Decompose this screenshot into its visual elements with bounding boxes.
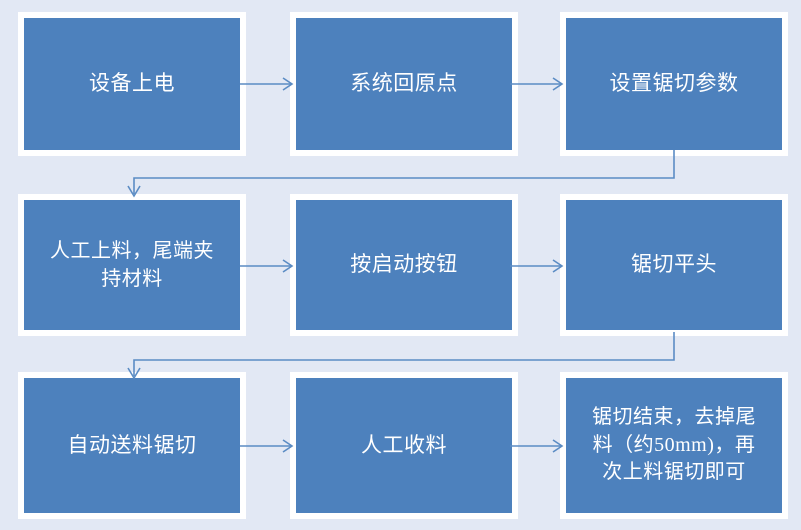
- flow-node-power-on[interactable]: 设备上电: [18, 12, 246, 156]
- flow-node-label: 自动送料锯切: [68, 431, 197, 461]
- flow-node-label: 设备上电: [89, 69, 175, 99]
- flow-node-label: 人工上料，尾端夹 持材料: [50, 237, 214, 294]
- flow-node-system-home[interactable]: 系统回原点: [290, 12, 518, 156]
- flowchart-canvas: 设备上电 系统回原点 设置锯切参数 人工上料，尾端夹 持材料 按启动按钮 锯切平…: [0, 0, 801, 530]
- flow-node-manual-unloading[interactable]: 人工收料: [290, 372, 518, 519]
- flow-node-set-saw-params[interactable]: 设置锯切参数: [560, 12, 788, 156]
- flow-node-label: 锯切结束，去掉尾 料（约50mm)，再 次上料锯切即可: [592, 404, 756, 487]
- flow-node-label: 锯切平头: [631, 250, 717, 280]
- flow-node-label: 人工收料: [361, 431, 447, 461]
- flow-node-label: 系统回原点: [350, 69, 458, 99]
- flow-node-auto-feed-sawing[interactable]: 自动送料锯切: [18, 372, 246, 519]
- flow-node-label: 设置锯切参数: [610, 69, 739, 99]
- flow-node-press-start-button[interactable]: 按启动按钮: [290, 194, 518, 336]
- flow-node-saw-flat-head[interactable]: 锯切平头: [560, 194, 788, 336]
- flow-node-manual-loading[interactable]: 人工上料，尾端夹 持材料: [18, 194, 246, 336]
- flow-node-label: 按启动按钮: [350, 250, 458, 280]
- flow-node-sawing-finished[interactable]: 锯切结束，去掉尾 料（约50mm)，再 次上料锯切即可: [560, 372, 788, 519]
